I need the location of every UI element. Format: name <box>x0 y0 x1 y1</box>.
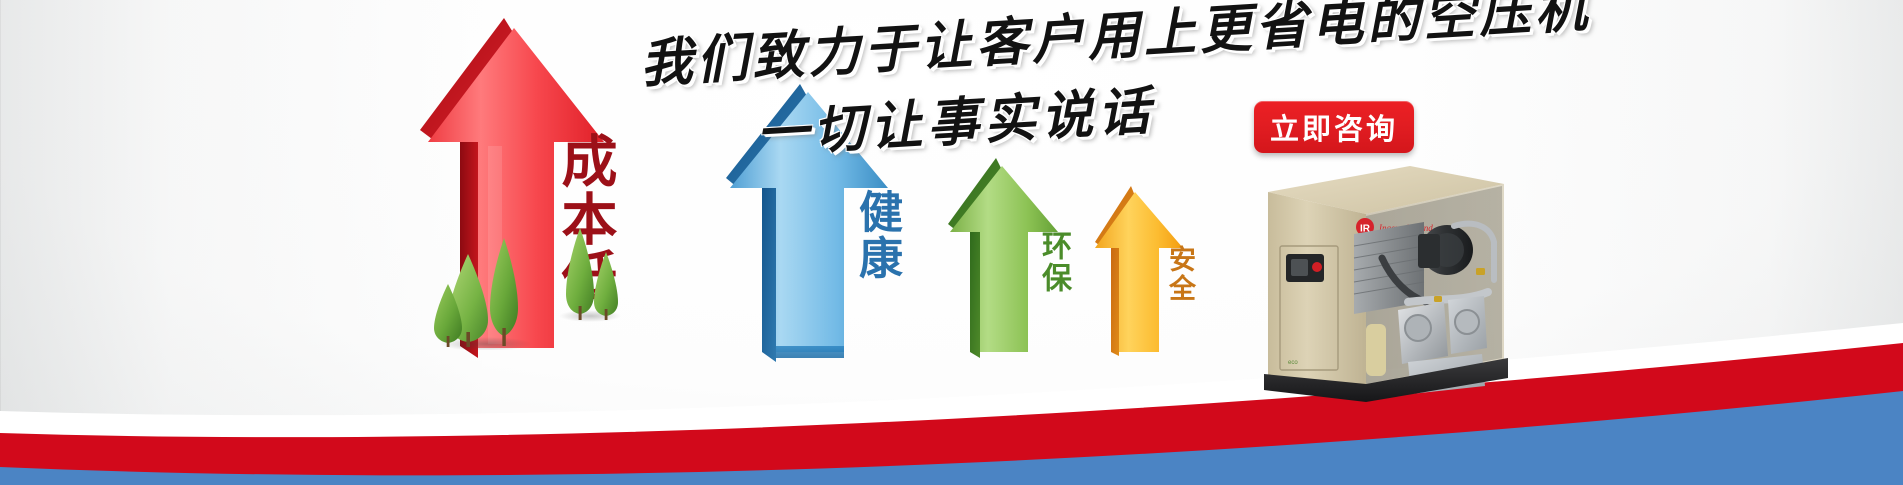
arrow-safety-label: 安全 <box>1085 245 1193 303</box>
tree-cluster-left <box>434 232 540 350</box>
tree-cluster-mid <box>558 226 624 322</box>
emergency-stop-button <box>1312 262 1322 272</box>
arrow-environment-label: 环保 <box>940 230 1068 294</box>
promo-banner: 安全 环保 <box>0 0 1903 485</box>
arrow-safety-label-wrap: 安全 <box>1085 214 1193 334</box>
arrow-environment-label-wrap: 环保 <box>940 192 1068 332</box>
air-compressor-product-image: IR Ingersoll Rand <box>1258 150 1508 402</box>
arrow-health-label: 健康 <box>720 189 898 281</box>
eco-badge: eco <box>1288 360 1298 366</box>
motor-mount <box>1418 234 1440 268</box>
consult-now-button[interactable]: 立即咨询 <box>1254 101 1414 153</box>
cabinet-front <box>1268 192 1366 386</box>
separator-tank <box>1366 324 1386 376</box>
arrow-safety: 安全 <box>1085 186 1193 356</box>
arrow-environment: 环保 <box>940 158 1068 358</box>
